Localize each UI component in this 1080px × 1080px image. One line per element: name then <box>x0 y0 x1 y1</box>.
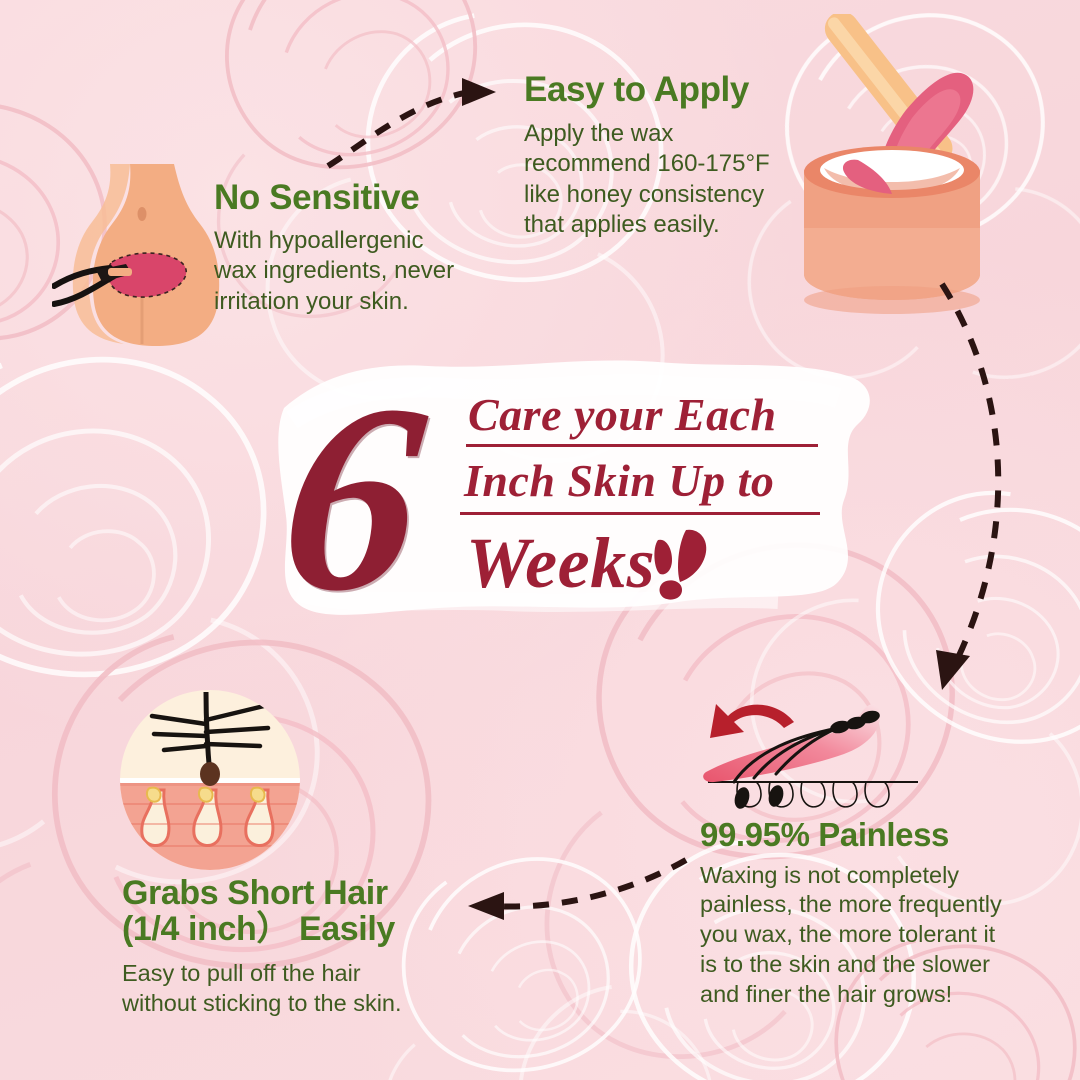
headline-number: 6 <box>272 364 434 632</box>
body-line: like honey consistency <box>524 181 764 208</box>
title-line: Grabs Short Hair <box>122 874 388 912</box>
body-line: and finer the hair grows! <box>700 981 952 1007</box>
body-line: Apply the wax <box>524 120 673 147</box>
headline-underline-1 <box>466 444 818 447</box>
headline-block: 6 Care your Each Inch Skin Up to Weeks <box>278 350 878 650</box>
hair-follicle-cross-section-illustration <box>114 684 306 876</box>
wax-strip-pulling-hair-illustration <box>698 686 948 826</box>
body-line: without sticking to the skin. <box>122 990 402 1016</box>
feature-grabs-short-hair: Grabs Short Hair (1/4 inch） Easily Easy … <box>122 876 492 1019</box>
headline-line-2: Inch Skin Up to <box>464 454 774 507</box>
body-line: that applies easily. <box>524 211 720 238</box>
feature-body: Apply the wax recommend 160-175°F like h… <box>524 119 814 241</box>
infographic-canvas: 6 Care your Each Inch Skin Up to Weeks N… <box>0 0 1080 1080</box>
body-line: With hypoallergenic <box>214 227 423 254</box>
body-line: painless, the more frequently <box>700 891 1002 917</box>
feature-title: Grabs Short Hair (1/4 inch） Easily <box>122 876 492 947</box>
body-line: Waxing is not completely <box>700 862 959 888</box>
arrow-top <box>320 62 520 182</box>
feature-title: Easy to Apply <box>524 72 814 109</box>
body-line: wax ingredients, never <box>214 257 454 284</box>
feature-title: 99.95% Painless <box>700 818 1030 853</box>
body-line: Easy to pull off the hair <box>122 960 361 986</box>
title-line: (1/4 inch） Easily <box>122 910 395 948</box>
headline-line-3: Weeks <box>466 522 655 605</box>
arrow-right <box>916 278 1056 708</box>
headline-underline-2 <box>460 512 820 515</box>
feature-body: Waxing is not completely painless, the m… <box>700 861 1030 1010</box>
exclamation-splash-icon <box>652 526 732 606</box>
body-line: recommend 160-175°F <box>524 150 770 177</box>
headline-line-1: Care your Each <box>468 388 777 441</box>
feature-easy-to-apply: Easy to Apply Apply the wax recommend 16… <box>524 72 814 241</box>
feature-body: Easy to pull off the hair without sticki… <box>122 959 492 1019</box>
wax-jar-with-spatula-illustration <box>786 14 1080 320</box>
body-line: you wax, the more tolerant it <box>700 921 995 947</box>
body-line: is to the skin and the slower <box>700 951 990 977</box>
feature-title: No Sensitive <box>214 180 514 217</box>
body-line: irritation your skin. <box>214 288 409 315</box>
feature-painless: 99.95% Painless Waxing is not completely… <box>700 818 1030 1010</box>
bikini-area-waxing-illustration <box>52 158 232 348</box>
feature-no-sensitive: No Sensitive With hypoallergenic wax ing… <box>214 180 514 317</box>
feature-body: With hypoallergenic wax ingredients, nev… <box>214 226 514 317</box>
